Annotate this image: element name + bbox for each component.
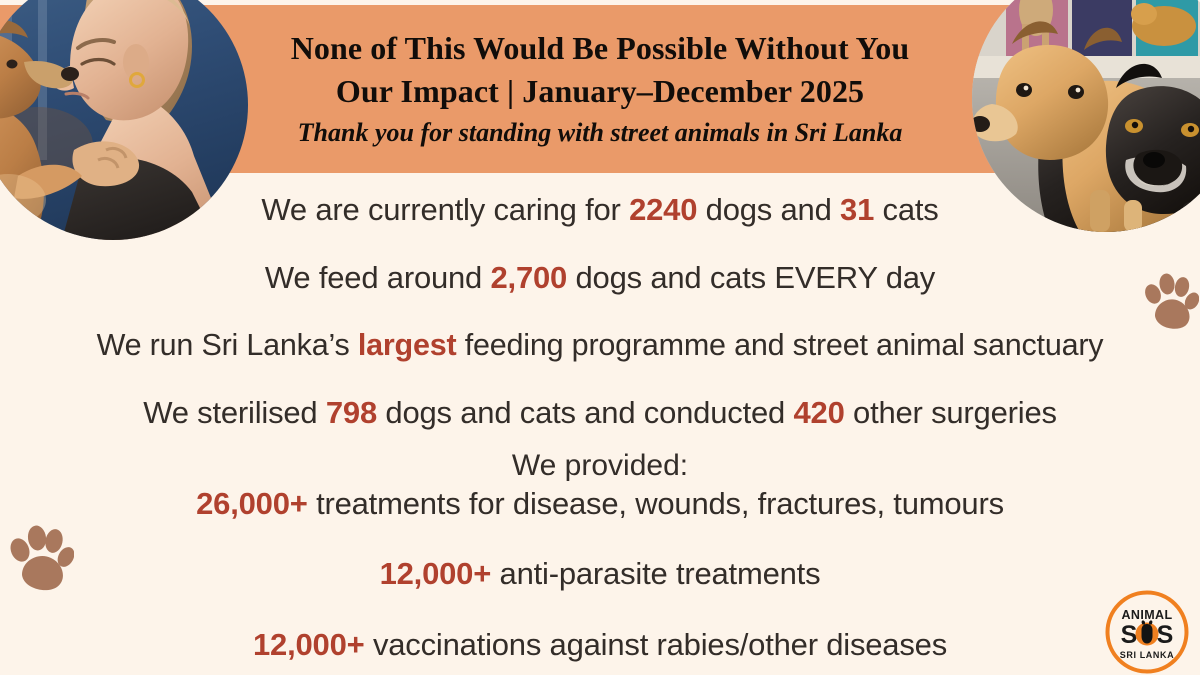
animal-sos-sri-lanka-logo[interactable]: ANIMAL S S SRI LANKA bbox=[1103, 588, 1191, 675]
text-fragment: We sterilised bbox=[143, 395, 326, 430]
banner-thankyou: Thank you for standing with street anima… bbox=[298, 115, 903, 151]
provided-heading: We provided: bbox=[0, 450, 1200, 482]
banner-subheadline: Our Impact | January–December 2025 bbox=[336, 70, 864, 113]
paw-print-icon bbox=[8, 523, 74, 591]
svg-text:S: S bbox=[1121, 621, 1138, 649]
highlight-value: 2240 bbox=[629, 192, 697, 227]
text-fragment: anti-parasite treatments bbox=[491, 556, 820, 591]
highlight-value: 12,000+ bbox=[253, 627, 365, 662]
highlight-value: 26,000+ bbox=[196, 486, 308, 521]
banner-headline: None of This Would Be Possible Without Y… bbox=[291, 27, 910, 70]
highlight-value: 798 bbox=[326, 395, 377, 430]
text-fragment: dogs and cats EVERY day bbox=[567, 260, 935, 295]
impact-poster: None of This Would Be Possible Without Y… bbox=[0, 0, 1200, 675]
highlight-value: 420 bbox=[793, 395, 844, 430]
header-banner-text: None of This Would Be Possible Without Y… bbox=[200, 5, 1000, 173]
text-fragment: treatments for disease, wounds, fracture… bbox=[308, 486, 1004, 521]
provided-item-vaccinations: 12,000+ vaccinations against rabies/othe… bbox=[0, 629, 1200, 662]
highlight-value: 2,700 bbox=[491, 260, 568, 295]
highlight-value: largest bbox=[358, 328, 457, 362]
provided-item-anti-parasite: 12,000+ anti-parasite treatments bbox=[0, 558, 1200, 591]
svg-text:S: S bbox=[1157, 621, 1174, 649]
svg-text:SRI LANKA: SRI LANKA bbox=[1120, 650, 1174, 660]
provided-item-treatments: 26,000+ treatments for disease, wounds, … bbox=[0, 488, 1200, 521]
text-fragment: dogs and cats and conducted bbox=[377, 395, 793, 430]
stat-daily-feeding: We feed around 2,700 dogs and cats EVERY… bbox=[0, 262, 1200, 294]
text-fragment: cats bbox=[874, 192, 938, 227]
highlight-value: 31 bbox=[840, 192, 874, 227]
text-fragment: We run Sri Lanka’s bbox=[97, 328, 358, 362]
highlight-value: 12,000+ bbox=[380, 556, 492, 591]
paw-print-icon bbox=[1143, 272, 1199, 330]
text-fragment: dogs and bbox=[697, 192, 840, 227]
text-fragment: We are currently caring for bbox=[261, 192, 629, 227]
text-fragment: feeding programme and street animal sanc… bbox=[456, 328, 1103, 362]
text-fragment: vaccinations against rabies/other diseas… bbox=[365, 627, 947, 662]
text-fragment: We feed around bbox=[265, 260, 491, 295]
stat-largest-programme: We run Sri Lanka’s largest feeding progr… bbox=[0, 330, 1200, 361]
stat-sterilisations-and-surgeries: We sterilised 798 dogs and cats and cond… bbox=[0, 397, 1200, 429]
text-fragment: other surgeries bbox=[845, 395, 1057, 430]
services-provided-block: We provided: 26,000+ treatments for dise… bbox=[0, 450, 1200, 661]
svg-text:ANIMAL: ANIMAL bbox=[1121, 608, 1172, 622]
